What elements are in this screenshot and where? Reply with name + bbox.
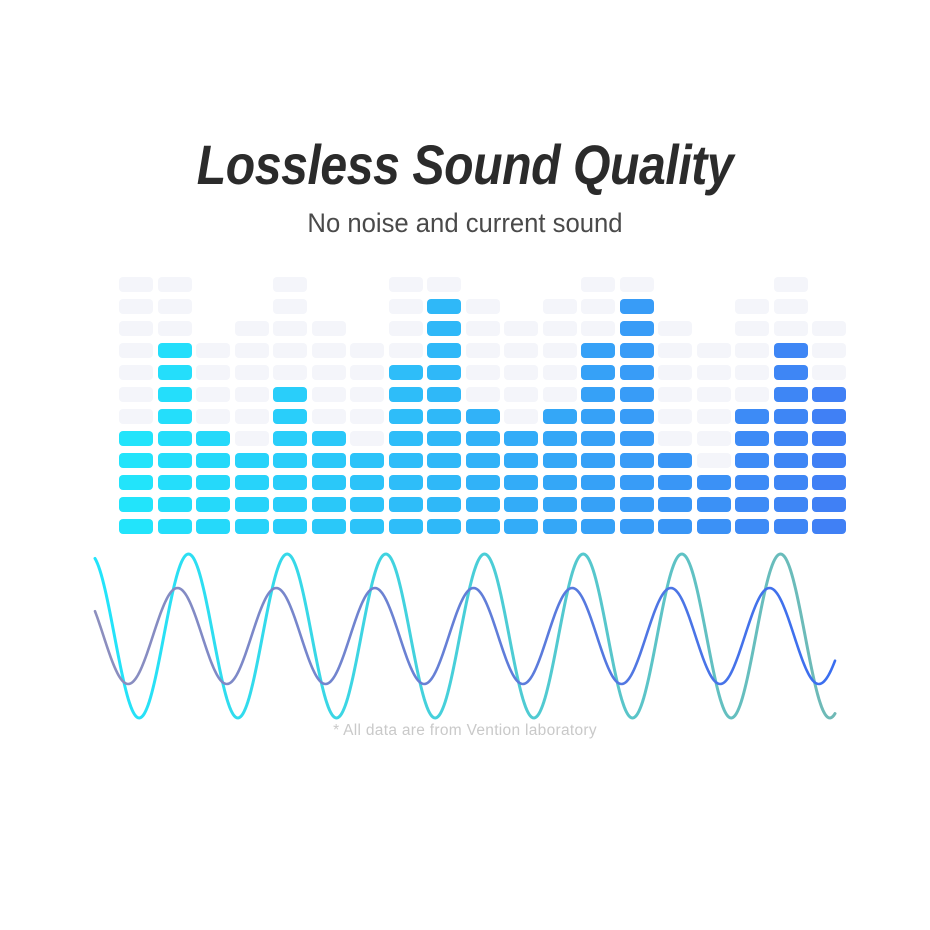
equalizer-cell-ghost xyxy=(389,277,423,292)
equalizer-cell-active xyxy=(389,431,423,446)
equalizer-column xyxy=(273,0,307,534)
equalizer-cell-active xyxy=(119,475,153,490)
equalizer-cell-active xyxy=(581,497,615,512)
equalizer-cell-ghost xyxy=(427,277,461,292)
equalizer-cell-ghost xyxy=(735,365,769,380)
equalizer-cell-active xyxy=(620,321,654,336)
equalizer-cell-ghost xyxy=(312,343,346,358)
equalizer-column xyxy=(427,0,461,534)
equalizer-cell-active xyxy=(735,497,769,512)
equalizer-cell-active xyxy=(158,343,192,358)
equalizer-cell-ghost xyxy=(735,321,769,336)
equalizer-cell-active xyxy=(658,453,692,468)
equalizer-cell-ghost xyxy=(466,321,500,336)
equalizer-cell-active xyxy=(389,497,423,512)
equalizer-cell-active xyxy=(427,453,461,468)
equalizer-cell-ghost xyxy=(196,409,230,424)
equalizer-cell-ghost xyxy=(504,365,538,380)
equalizer-cell-active xyxy=(774,409,808,424)
equalizer-cell-ghost xyxy=(697,431,731,446)
equalizer-cell-ghost xyxy=(196,343,230,358)
equalizer-cell-active xyxy=(658,497,692,512)
equalizer-cell-active xyxy=(774,387,808,402)
equalizer-cell-ghost xyxy=(235,321,269,336)
equalizer-cell-active xyxy=(389,475,423,490)
equalizer-cell-active xyxy=(543,497,577,512)
equalizer-cell-ghost xyxy=(543,343,577,358)
equalizer-cell-ghost xyxy=(196,387,230,402)
equalizer-cell-active xyxy=(581,475,615,490)
equalizer-cell-active xyxy=(581,387,615,402)
equalizer-cell-active xyxy=(427,343,461,358)
equalizer-cell-active xyxy=(119,453,153,468)
equalizer-cell-active xyxy=(774,497,808,512)
equalizer-cell-active xyxy=(350,519,384,534)
equalizer-cell-active xyxy=(620,409,654,424)
equalizer-cell-ghost xyxy=(697,387,731,402)
equalizer-cell-ghost xyxy=(389,321,423,336)
equalizer-cell-ghost xyxy=(697,409,731,424)
equalizer-cell-active xyxy=(735,409,769,424)
equalizer-cell-active xyxy=(427,475,461,490)
equalizer-cell-active xyxy=(196,431,230,446)
equalizer-cell-ghost xyxy=(504,343,538,358)
equalizer-cell-active xyxy=(196,453,230,468)
equalizer-cell-ghost xyxy=(235,387,269,402)
equalizer-cell-active xyxy=(427,321,461,336)
equalizer-cell-active xyxy=(427,409,461,424)
equalizer-cell-ghost xyxy=(119,387,153,402)
equalizer-cell-active xyxy=(504,519,538,534)
equalizer-cell-ghost xyxy=(389,343,423,358)
equalizer-column xyxy=(543,0,577,534)
equalizer-cell-active xyxy=(658,519,692,534)
equalizer-cell-ghost xyxy=(658,343,692,358)
equalizer-cell-ghost xyxy=(466,299,500,314)
equalizer-cell-ghost xyxy=(697,453,731,468)
equalizer-cell-ghost xyxy=(273,365,307,380)
equalizer-cell-ghost xyxy=(543,321,577,336)
equalizer-cell-ghost xyxy=(389,299,423,314)
equalizer-cell-active xyxy=(158,431,192,446)
equalizer-cell-active xyxy=(389,519,423,534)
equalizer-cell-active xyxy=(697,475,731,490)
equalizer-cell-active xyxy=(273,475,307,490)
equalizer-cell-active xyxy=(543,519,577,534)
equalizer-cell-ghost xyxy=(658,321,692,336)
equalizer-cell-active xyxy=(543,453,577,468)
equalizer-cell-ghost xyxy=(543,299,577,314)
equalizer-cell-ghost xyxy=(812,343,846,358)
equalizer-cell-active xyxy=(774,453,808,468)
equalizer-cell-ghost xyxy=(273,277,307,292)
equalizer-cell-ghost xyxy=(735,387,769,402)
equalizer-cell-ghost xyxy=(119,343,153,358)
equalizer-column xyxy=(466,0,500,534)
equalizer-cell-active xyxy=(119,497,153,512)
equalizer-cell-active xyxy=(427,365,461,380)
equalizer-cell-ghost xyxy=(350,343,384,358)
equalizer-cell-active xyxy=(581,343,615,358)
equalizer-column xyxy=(735,0,769,534)
equalizer-cell-active xyxy=(504,475,538,490)
equalizer-cell-active xyxy=(581,453,615,468)
equalizer-column xyxy=(235,0,269,534)
equalizer-cell-ghost xyxy=(697,365,731,380)
equalizer-cell-active xyxy=(312,497,346,512)
equalizer-column xyxy=(620,0,654,534)
equalizer-cell-active xyxy=(812,453,846,468)
equalizer-cell-active xyxy=(158,387,192,402)
equalizer-cell-active xyxy=(427,299,461,314)
equalizer-column xyxy=(119,0,153,534)
equalizer-cell-active xyxy=(735,475,769,490)
equalizer-cell-active xyxy=(119,431,153,446)
equalizer-cell-ghost xyxy=(581,277,615,292)
equalizer-cell-active xyxy=(812,475,846,490)
equalizer-column xyxy=(389,0,423,534)
equalizer-column xyxy=(812,0,846,534)
equalizer-cell-ghost xyxy=(273,299,307,314)
equalizer-cell-ghost xyxy=(312,365,346,380)
equalizer-column xyxy=(581,0,615,534)
equalizer-cell-ghost xyxy=(581,321,615,336)
equalizer-cell-active xyxy=(620,519,654,534)
equalizer-cell-ghost xyxy=(273,343,307,358)
equalizer-cell-active xyxy=(466,409,500,424)
equalizer-cell-active xyxy=(620,365,654,380)
equalizer-cell-active xyxy=(504,497,538,512)
equalizer-cell-active xyxy=(389,453,423,468)
equalizer-cell-ghost xyxy=(658,431,692,446)
equalizer-cell-active xyxy=(235,475,269,490)
equalizer-cell-ghost xyxy=(466,387,500,402)
equalizer-cell-ghost xyxy=(158,299,192,314)
equalizer-cell-ghost xyxy=(735,299,769,314)
equalizer-bar-chart xyxy=(0,0,930,930)
equalizer-cell-active xyxy=(543,475,577,490)
equalizer-cell-active xyxy=(620,431,654,446)
equalizer-cell-active xyxy=(273,387,307,402)
equalizer-cell-active xyxy=(774,519,808,534)
equalizer-cell-active xyxy=(389,365,423,380)
equalizer-cell-active xyxy=(312,519,346,534)
equalizer-cell-active xyxy=(158,453,192,468)
equalizer-cell-active xyxy=(812,387,846,402)
equalizer-cell-active xyxy=(620,343,654,358)
equalizer-cell-active xyxy=(774,475,808,490)
equalizer-cell-active xyxy=(427,519,461,534)
equalizer-cell-active xyxy=(466,519,500,534)
equalizer-cell-ghost xyxy=(466,365,500,380)
equalizer-cell-ghost xyxy=(273,321,307,336)
equalizer-cell-ghost xyxy=(658,387,692,402)
equalizer-cell-ghost xyxy=(350,387,384,402)
equalizer-cell-active xyxy=(620,453,654,468)
equalizer-cell-active xyxy=(466,453,500,468)
equalizer-cell-active xyxy=(697,519,731,534)
equalizer-cell-ghost xyxy=(812,321,846,336)
equalizer-cell-active xyxy=(196,519,230,534)
equalizer-cell-ghost xyxy=(119,299,153,314)
equalizer-cell-active xyxy=(350,475,384,490)
equalizer-cell-active xyxy=(504,453,538,468)
equalizer-cell-active xyxy=(543,409,577,424)
equalizer-cell-active xyxy=(581,431,615,446)
equalizer-cell-active xyxy=(466,475,500,490)
equalizer-cell-active xyxy=(235,453,269,468)
equalizer-cell-active xyxy=(312,431,346,446)
equalizer-cell-active xyxy=(812,409,846,424)
equalizer-cell-active xyxy=(350,453,384,468)
equalizer-cell-ghost xyxy=(543,387,577,402)
equalizer-cell-active xyxy=(312,453,346,468)
equalizer-cell-active xyxy=(581,365,615,380)
equalizer-cell-active xyxy=(273,453,307,468)
equalizer-cell-ghost xyxy=(350,409,384,424)
equalizer-cell-active xyxy=(774,365,808,380)
equalizer-cell-ghost xyxy=(158,277,192,292)
equalizer-cell-active xyxy=(273,497,307,512)
equalizer-cell-active xyxy=(235,497,269,512)
equalizer-cell-ghost xyxy=(350,431,384,446)
equalizer-column xyxy=(697,0,731,534)
equalizer-cell-ghost xyxy=(312,321,346,336)
equalizer-cell-active xyxy=(774,431,808,446)
equalizer-cell-active xyxy=(543,431,577,446)
equalizer-cell-active xyxy=(273,519,307,534)
equalizer-cell-ghost xyxy=(312,387,346,402)
equalizer-cell-active xyxy=(581,409,615,424)
equalizer-cell-ghost xyxy=(119,321,153,336)
equalizer-cell-active xyxy=(735,519,769,534)
equalizer-cell-active xyxy=(812,497,846,512)
sound-quality-infographic: Lossless Sound Quality No noise and curr… xyxy=(0,0,930,930)
footnote-text: * All data are from Vention laboratory xyxy=(0,722,930,740)
equalizer-column xyxy=(350,0,384,534)
equalizer-cell-active xyxy=(389,387,423,402)
equalizer-cell-ghost xyxy=(312,409,346,424)
equalizer-cell-active xyxy=(158,497,192,512)
equalizer-cell-ghost xyxy=(774,277,808,292)
equalizer-column xyxy=(658,0,692,534)
equalizer-cell-active xyxy=(350,497,384,512)
equalizer-cell-active xyxy=(697,497,731,512)
equalizer-cell-ghost xyxy=(119,365,153,380)
equalizer-cell-active xyxy=(273,431,307,446)
equalizer-cell-active xyxy=(620,387,654,402)
equalizer-column xyxy=(312,0,346,534)
equalizer-cell-ghost xyxy=(235,365,269,380)
equalizer-cell-active xyxy=(774,343,808,358)
equalizer-cell-ghost xyxy=(235,431,269,446)
equalizer-cell-ghost xyxy=(504,409,538,424)
equalizer-cell-active xyxy=(119,519,153,534)
equalizer-cell-active xyxy=(158,409,192,424)
equalizer-cell-ghost xyxy=(119,409,153,424)
equalizer-cell-active xyxy=(427,497,461,512)
equalizer-cell-ghost xyxy=(812,365,846,380)
equalizer-cell-ghost xyxy=(658,365,692,380)
equalizer-cell-ghost xyxy=(735,343,769,358)
equalizer-cell-active xyxy=(620,299,654,314)
equalizer-cell-ghost xyxy=(158,321,192,336)
equalizer-column xyxy=(158,0,192,534)
equalizer-cell-active xyxy=(812,431,846,446)
equalizer-cell-active xyxy=(312,475,346,490)
equalizer-column xyxy=(504,0,538,534)
equalizer-cell-active xyxy=(466,431,500,446)
equalizer-cell-ghost xyxy=(196,365,230,380)
equalizer-cell-active xyxy=(735,453,769,468)
equalizer-cell-active xyxy=(235,519,269,534)
equalizer-cell-active xyxy=(504,431,538,446)
equalizer-cell-ghost xyxy=(697,343,731,358)
equalizer-cell-ghost xyxy=(235,409,269,424)
equalizer-cell-active xyxy=(273,409,307,424)
equalizer-cell-ghost xyxy=(504,321,538,336)
equalizer-cell-active xyxy=(620,497,654,512)
equalizer-cell-active xyxy=(196,475,230,490)
equalizer-cell-active xyxy=(812,519,846,534)
equalizer-cell-ghost xyxy=(581,299,615,314)
equalizer-cell-ghost xyxy=(620,277,654,292)
equalizer-cell-ghost xyxy=(119,277,153,292)
equalizer-cell-ghost xyxy=(350,365,384,380)
equalizer-cell-ghost xyxy=(543,365,577,380)
equalizer-cell-active xyxy=(158,475,192,490)
equalizer-cell-active xyxy=(196,497,230,512)
equalizer-column xyxy=(196,0,230,534)
equalizer-cell-ghost xyxy=(466,343,500,358)
equalizer-cell-active xyxy=(427,387,461,402)
equalizer-column xyxy=(774,0,808,534)
equalizer-cell-active xyxy=(466,497,500,512)
equalizer-cell-ghost xyxy=(235,343,269,358)
equalizer-cell-ghost xyxy=(658,409,692,424)
equalizer-cell-active xyxy=(581,519,615,534)
equalizer-cell-active xyxy=(158,365,192,380)
equalizer-cell-active xyxy=(158,519,192,534)
equalizer-cell-ghost xyxy=(774,299,808,314)
equalizer-cell-active xyxy=(658,475,692,490)
equalizer-cell-active xyxy=(735,431,769,446)
equalizer-cell-active xyxy=(427,431,461,446)
equalizer-cell-active xyxy=(389,409,423,424)
equalizer-cell-active xyxy=(620,475,654,490)
equalizer-cell-ghost xyxy=(774,321,808,336)
equalizer-cell-ghost xyxy=(504,387,538,402)
